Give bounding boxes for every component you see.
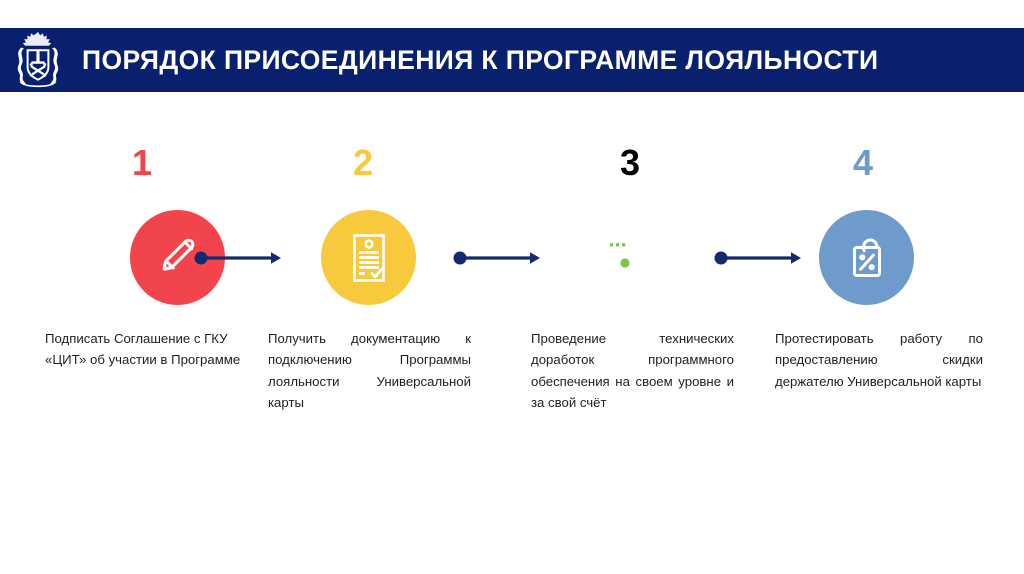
arrow-right-with-dot-icon — [713, 246, 805, 270]
step-text-2: Получить документацию к подключению Прог… — [268, 328, 471, 414]
document-check-icon — [344, 231, 394, 285]
connector-arrow-1 — [193, 246, 285, 270]
step-4: 4 Протестировать работу по предоставлени… — [770, 92, 1020, 422]
step-number-4: 4 — [853, 145, 1024, 181]
step-icon-circle-4 — [819, 210, 914, 305]
discount-price-tag-icon — [842, 230, 892, 286]
step-text-1: Подписать Соглашение с ГКУ «ЦИТ» об учас… — [45, 328, 247, 371]
page-header: ПОРЯДОК ПРИСОЕДИНЕНИЯ К ПРОГРАММЕ ЛОЯЛЬН… — [0, 28, 1024, 92]
step-text-3: Проведение технических доработок програм… — [531, 328, 734, 414]
arrow-right-with-dot-icon — [193, 246, 285, 270]
connector-arrow-2 — [452, 246, 544, 270]
arrow-right-with-dot-icon — [452, 246, 544, 270]
page-title: ПОРЯДОК ПРИСОЕДИНЕНИЯ К ПРОГРАММЕ ЛОЯЛЬН… — [82, 45, 878, 76]
step-icon-circle-2 — [321, 210, 416, 305]
process-steps: 1 Подписать Соглашение с ГКУ «ЦИТ» об уч… — [0, 92, 1024, 574]
browser-settings-gear-icon — [598, 232, 652, 284]
step-icon-circle-3 — [577, 210, 672, 305]
connector-arrow-3 — [713, 246, 805, 270]
coat-of-arms-icon — [12, 31, 64, 89]
step-text-4: Протестировать работу по предоставлению … — [775, 328, 983, 392]
